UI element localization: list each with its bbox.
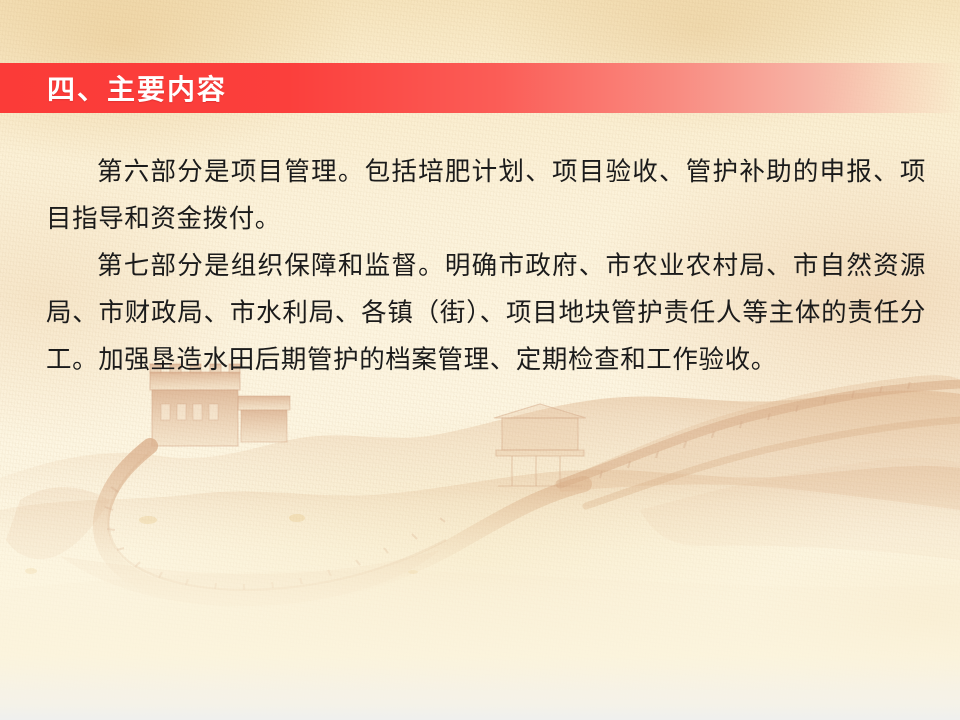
bottom-fade-overlay [0,490,960,720]
slide-body-content: 第六部分是项目管理。包括培肥计划、项目验收、管护补助的申报、项目指导和资金拨付。… [46,148,926,383]
presentation-slide: 四、主要内容 第六部分是项目管理。包括培肥计划、项目验收、管护补助的申报、项目指… [0,0,960,720]
paragraph-2: 第七部分是组织保障和监督。明确市政府、市农业农村局、市自然资源局、市财政局、市水… [46,242,926,383]
paragraph-1: 第六部分是项目管理。包括培肥计划、项目验收、管护补助的申报、项目指导和资金拨付。 [46,148,926,242]
page-title: 四、主要内容 [47,68,227,108]
section-title-banner: 四、主要内容 [0,63,960,113]
